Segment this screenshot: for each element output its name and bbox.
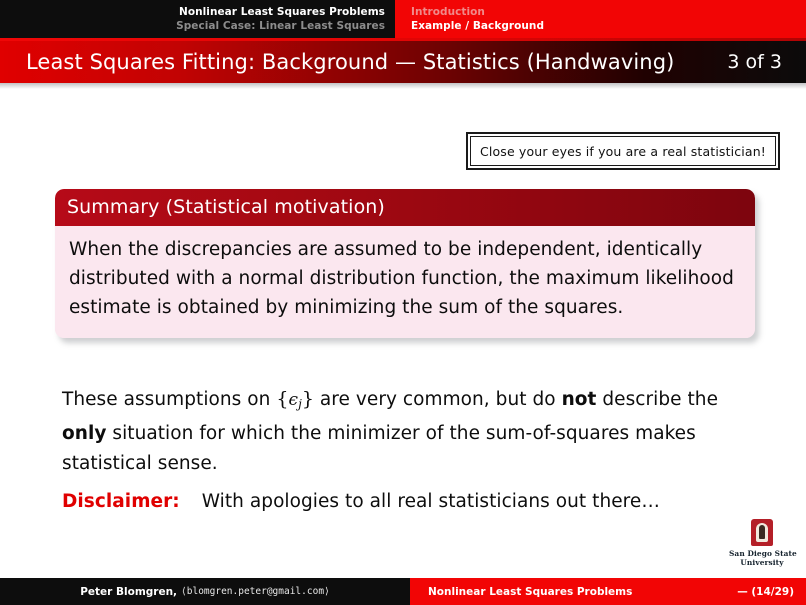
summary-block-body: When the discrepancies are assumed to be…: [55, 226, 755, 338]
slide-navigation-bar: Nonlinear Least Squares Problems Special…: [0, 0, 806, 38]
callout-box: Close your eyes if you are a real statis…: [466, 132, 780, 170]
slide-footer-bar: Peter Blomgren, ⟨blomgren.peter@gmail.co…: [0, 578, 806, 605]
footer-author-name: Peter Blomgren,: [80, 586, 177, 598]
page-title: Least Squares Fitting: Background — Stat…: [26, 50, 727, 74]
footer-subject-title: Nonlinear Least Squares Problems: [428, 586, 737, 598]
assumptions-text-part2: are very common, but do: [314, 389, 562, 410]
slide-content-area: Close your eyes if you are a real statis…: [0, 89, 806, 578]
assumptions-text-part3: describe the: [596, 389, 718, 410]
disclaimer-label: Disclaimer:: [62, 491, 180, 512]
slide-title-bar: Least Squares Fitting: Background — Stat…: [0, 41, 806, 83]
summary-block: Summary (Statistical motivation) When th…: [55, 189, 755, 338]
footer-author-section: Peter Blomgren, ⟨blomgren.peter@gmail.co…: [0, 578, 410, 605]
disclaimer-paragraph: Disclaimer:With apologies to all real st…: [62, 487, 752, 517]
math-epsilon-symbol: ϵ: [288, 390, 298, 410]
nav-deck-title[interactable]: Nonlinear Least Squares Problems: [179, 5, 385, 19]
assumptions-text-part4: situation for which the minimizer of the…: [62, 423, 696, 474]
disclaimer-text: With apologies to all real statisticians…: [202, 491, 660, 512]
sdsu-logo: San Diego State University: [729, 519, 795, 567]
nav-topic-current[interactable]: Example / Background: [411, 19, 544, 33]
assumptions-emphasis-not: not: [562, 389, 597, 410]
sdsu-logo-line2: University: [729, 558, 795, 567]
nav-topic-parent[interactable]: Introduction: [411, 5, 485, 19]
footer-author-email[interactable]: ⟨blomgren.peter@gmail.com⟩: [181, 586, 330, 597]
summary-block-header: Summary (Statistical motivation): [55, 189, 755, 226]
summary-block-text: When the discrepancies are assumed to be…: [69, 239, 734, 318]
callout-box-inner-border: Close your eyes if you are a real statis…: [470, 136, 776, 166]
nav-section-current-topic[interactable]: Introduction Example / Background: [395, 0, 806, 38]
nav-deck-subtitle[interactable]: Special Case: Linear Least Squares: [176, 19, 385, 33]
callout-text: Close your eyes if you are a real statis…: [480, 144, 766, 159]
summary-block-title: Summary (Statistical motivation): [67, 196, 385, 218]
assumptions-emphasis-only: only: [62, 423, 106, 444]
slide-counter: 3 of 3: [727, 51, 788, 73]
sdsu-logo-line1: San Diego State: [729, 549, 795, 558]
assumptions-paragraph: These assumptions on {ϵj} are very commo…: [62, 384, 752, 479]
nav-section-current-deck[interactable]: Nonlinear Least Squares Problems Special…: [0, 0, 395, 38]
footer-page-number: — (14/29): [737, 586, 794, 598]
math-brace-close: }: [302, 388, 314, 410]
sdsu-crest-icon: [751, 519, 773, 546]
assumptions-text-part1: These assumptions on: [62, 389, 276, 410]
math-brace-open: {: [276, 388, 288, 410]
footer-subject-section: Nonlinear Least Squares Problems — (14/2…: [410, 578, 806, 605]
